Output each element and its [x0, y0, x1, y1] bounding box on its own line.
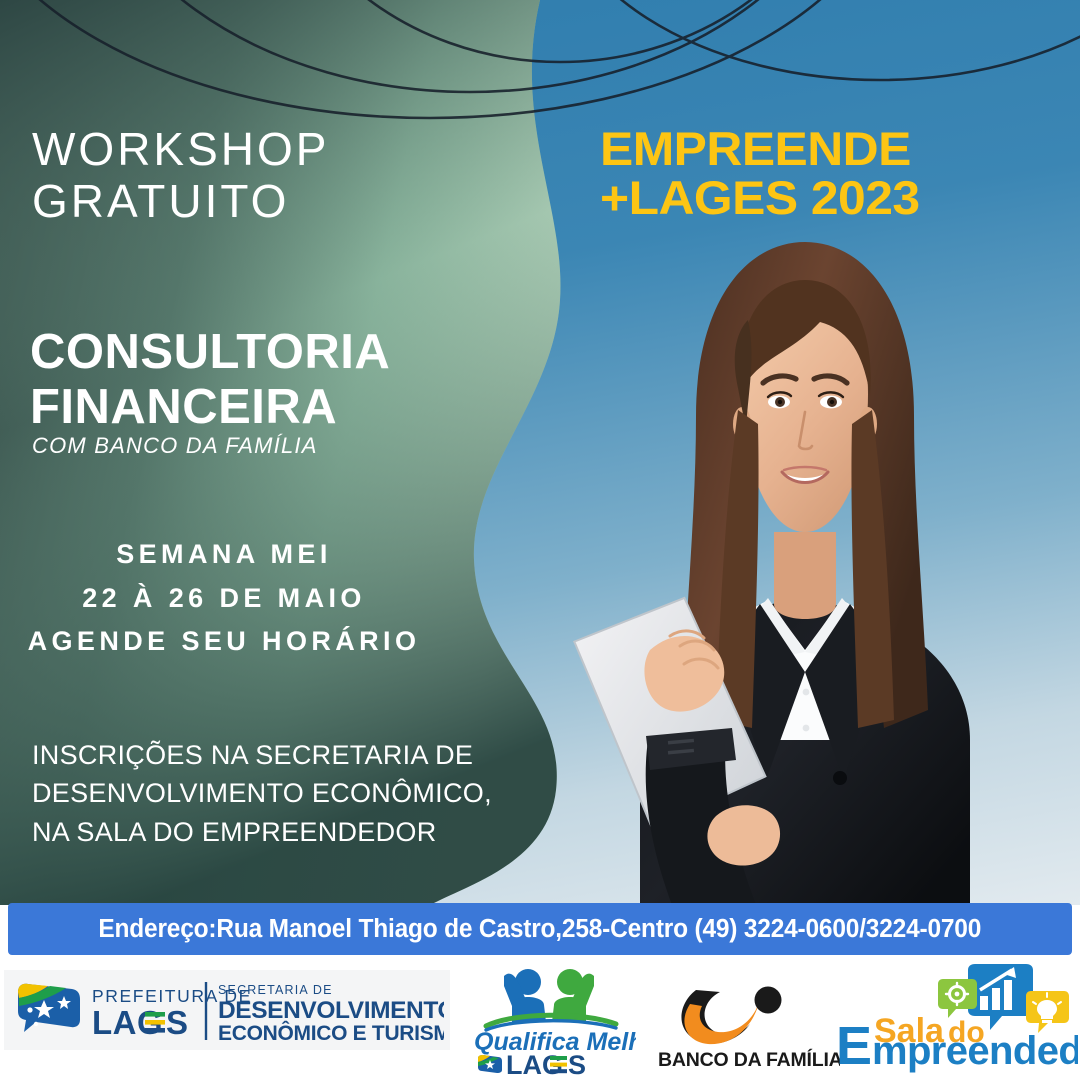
registration-line-2: DESENVOLVIMENTO ECONÔMICO,	[32, 774, 502, 812]
svg-text:E: E	[836, 1016, 872, 1076]
logo-qualifica-melhor-lages: Qualifica Melhor LAG S	[466, 960, 636, 1078]
event-headline: EMPREENDE +LAGES 2023	[600, 124, 1045, 223]
svg-text:ECONÔMICO E TURISMO: ECONÔMICO E TURISMO	[218, 1021, 444, 1045]
footer-logo-strip: PREFEITURA DE LAG S SECRETARIA DE DESENV…	[0, 958, 1080, 1080]
address-banner: Endereço:Rua Manoel Thiago de Castro,258…	[8, 903, 1072, 955]
registration-info: INSCRIÇÕES NA SECRETARIA DE DESENVOLVIME…	[32, 736, 502, 851]
schedule-block: SEMANA MEI 22 À 26 DE MAIO AGENDE SEU HO…	[0, 533, 448, 664]
poster-root: WORKSHOP GRATUITO CONSULTORIA FINANCEIRA…	[0, 0, 1080, 1080]
main-title: CONSULTORIA FINANCEIRA	[30, 325, 500, 435]
event-headline-line-1: EMPREENDE	[600, 124, 1045, 173]
registration-line-3: NA SALA DO EMPREENDEDOR	[32, 813, 502, 851]
svg-text:SECRETARIA DE: SECRETARIA DE	[218, 983, 333, 997]
svg-text:S: S	[568, 1050, 586, 1078]
svg-text:mpreendedor: mpreendedor	[872, 1029, 1078, 1073]
workshop-line-2: GRATUITO	[32, 176, 492, 228]
schedule-line-2: 22 À 26 DE MAIO	[0, 577, 448, 621]
schedule-line-3: AGENDE SEU HORÁRIO	[0, 620, 448, 664]
logo-banco-da-familia: BANCO DA FAMÍLIA	[650, 974, 840, 1070]
workshop-line-1: WORKSHOP	[32, 123, 329, 175]
event-headline-line-2: +LAGES 2023	[600, 173, 1045, 222]
main-title-line-2: FINANCEIRA	[30, 380, 500, 435]
svg-text:DESENVOLVIMENTO: DESENVOLVIMENTO	[218, 997, 444, 1024]
registration-line-1: INSCRIÇÕES NA SECRETARIA DE	[32, 736, 502, 774]
svg-text:BANCO DA FAMÍLIA: BANCO DA FAMÍLIA	[658, 1048, 840, 1070]
address-text: Endereço:Rua Manoel Thiago de Castro,258…	[99, 915, 982, 944]
left-text-column: WORKSHOP GRATUITO CONSULTORIA FINANCEIRA…	[0, 0, 520, 905]
workshop-heading: WORKSHOP GRATUITO	[32, 124, 492, 227]
svg-text:S: S	[166, 1004, 189, 1041]
schedule-line-1: SEMANA MEI	[0, 533, 448, 577]
main-title-line-1: CONSULTORIA	[30, 325, 390, 379]
logo-sala-do-empreendedor: E Sala do mpreendedor	[830, 964, 1078, 1076]
businesswoman-photo	[520, 180, 1080, 905]
subtitle-partner: COM BANCO DA FAMÍLIA	[32, 433, 492, 459]
logo-prefeitura-lages: PREFEITURA DE LAG S SECRETARIA DE DESENV…	[14, 976, 444, 1046]
